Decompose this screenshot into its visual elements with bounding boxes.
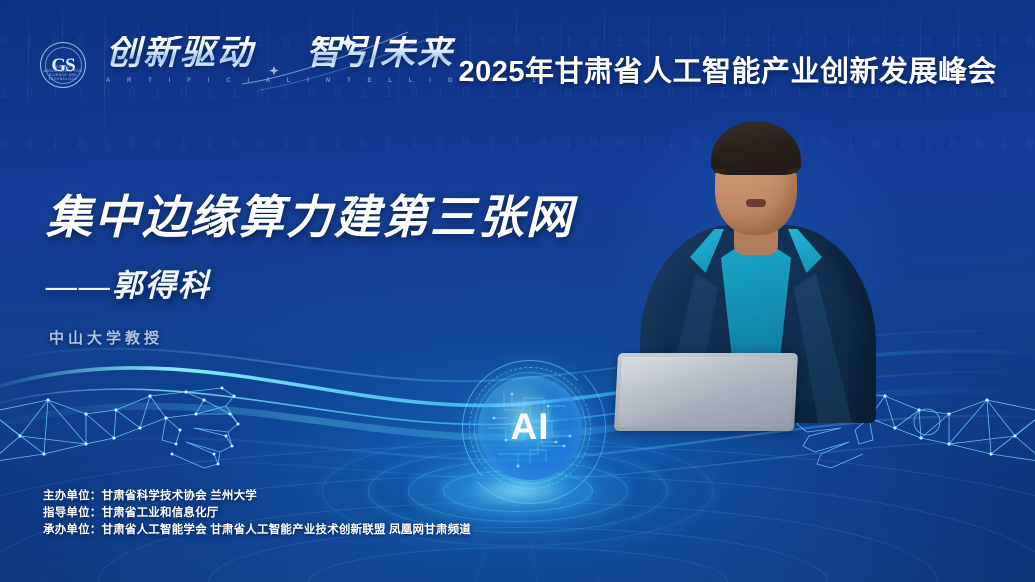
credit-value: 甘肃省人工智能学会 甘肃省人工智能产业技术创新联盟 凤凰网甘肃频道	[102, 524, 472, 536]
lecture-speaker-name: ——郭得科	[46, 260, 574, 305]
organization-seal-logo: GS GANSU ASSOCIATION FOR SCIENCE AND TEC…	[40, 42, 86, 88]
credit-label: 指导单位：	[43, 507, 102, 519]
brand-slogan-part2: 智引未来	[306, 33, 454, 73]
presenter-eye-right	[787, 169, 798, 173]
wireframe-hand-left	[0, 366, 240, 496]
presenter-figure	[598, 105, 914, 423]
brand-slogan-part1: 创新驱动	[106, 33, 254, 73]
credit-value: 甘肃省科学技术协会 兰州大学	[102, 490, 258, 502]
lecture-info-block: 集中边缘算力建第三张网 ——郭得科 中山大学教授	[46, 192, 574, 348]
credit-line: 承办单位：甘肃省人工智能学会 甘肃省人工智能产业技术创新联盟 凤凰网甘肃频道	[43, 522, 471, 539]
presenter-eye-left	[714, 169, 725, 173]
orb-label: AI	[454, 406, 606, 448]
credit-label: 主办单位：	[43, 490, 102, 502]
header-bar: GS GANSU ASSOCIATION FOR SCIENCE AND TEC…	[0, 0, 1035, 104]
lecture-speaker-affiliation: 中山大学教授	[49, 327, 574, 348]
event-title: 2025年甘肃省人工智能产业创新发展峰会	[458, 48, 997, 90]
presenter-laptop	[614, 353, 798, 431]
presenter-mouth	[746, 199, 766, 207]
credit-line: 主办单位：甘肃省科学技术协会 兰州大学	[43, 488, 471, 505]
credit-value: 甘肃省工业和信息化厅	[102, 507, 219, 519]
seal-monogram: GS	[51, 56, 74, 75]
lecture-title: 集中边缘算力建第三张网	[46, 192, 574, 244]
hand-mesh-svg	[0, 366, 240, 496]
credit-label: 承办单位：	[43, 524, 102, 536]
presenter-hair	[711, 121, 801, 175]
organizer-credits: 主办单位：甘肃省科学技术协会 兰州大学 指导单位：甘肃省工业和信息化厅 承办单位…	[43, 488, 471, 539]
credit-line: 指导单位：甘肃省工业和信息化厅	[43, 505, 471, 522]
broadcast-stage: 0 1 0 0 1 1 0 1 0 0 1 0 1 1 0 0 1 0 1 0 …	[0, 0, 1035, 582]
ai-orb: AI	[454, 352, 606, 504]
